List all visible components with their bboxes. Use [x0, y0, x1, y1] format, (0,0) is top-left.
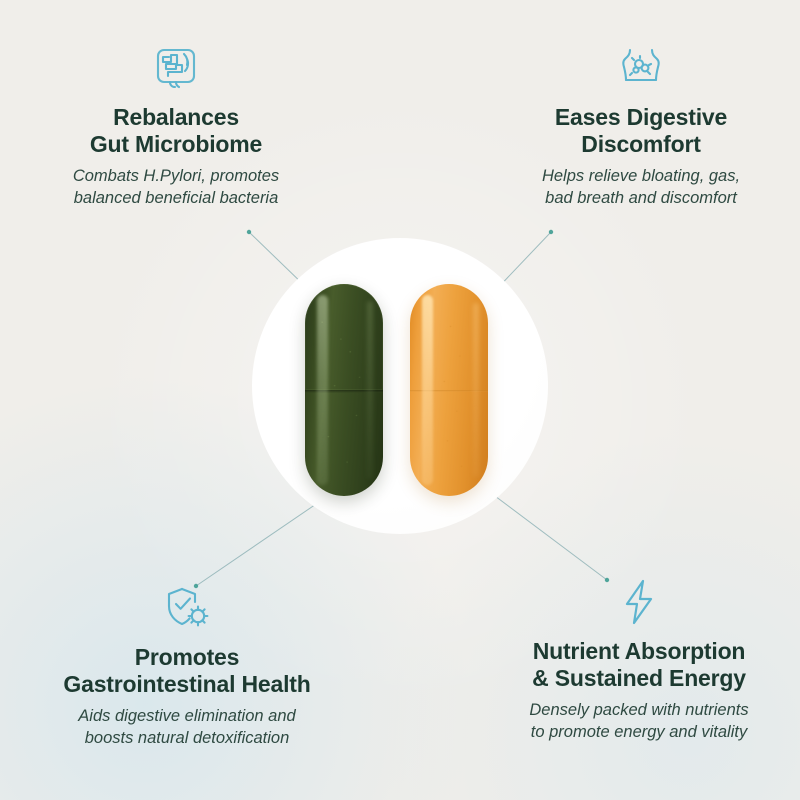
orange-capsule — [410, 284, 488, 496]
product-hero — [222, 208, 578, 564]
white-product-disc — [252, 238, 548, 534]
feature-title: Rebalances Gut Microbiome — [26, 104, 326, 158]
feature-description: Aids digestive elimination and boosts na… — [14, 706, 360, 750]
shield-check-virus-icon — [14, 580, 360, 636]
intestine-icon — [26, 40, 326, 96]
feature-promotes-gastrointestinal-health: Promotes Gastrointestinal Health Aids di… — [14, 580, 360, 750]
feature-eases-digestive-discomfort: Eases Digestive Discomfort Helps relieve… — [496, 40, 786, 210]
belly-bacteria-icon — [496, 40, 786, 96]
infographic-canvas: Rebalances Gut Microbiome Combats H.Pylo… — [0, 0, 800, 800]
orange-capsule-secondary-highlight — [473, 303, 479, 477]
orange-capsule-highlight — [422, 295, 433, 486]
feature-description: Helps relieve bloating, gas, bad breath … — [496, 166, 786, 210]
feature-rebalances-gut-microbiome: Rebalances Gut Microbiome Combats H.Pylo… — [26, 40, 326, 210]
green-capsule — [305, 284, 383, 496]
feature-description: Combats H.Pylori, promotes balanced bene… — [26, 166, 326, 210]
feature-title: Eases Digestive Discomfort — [496, 104, 786, 158]
lightning-bolt-icon — [486, 574, 792, 630]
feature-title: Nutrient Absorption & Sustained Energy — [486, 638, 792, 692]
green-capsule-highlight — [317, 295, 327, 486]
feature-title: Promotes Gastrointestinal Health — [14, 644, 360, 698]
feature-nutrient-absorption-sustained-energy: Nutrient Absorption & Sustained Energy D… — [486, 574, 792, 744]
feature-description: Densely packed with nutrients to promote… — [486, 700, 792, 744]
green-capsule-secondary-highlight — [367, 301, 372, 479]
